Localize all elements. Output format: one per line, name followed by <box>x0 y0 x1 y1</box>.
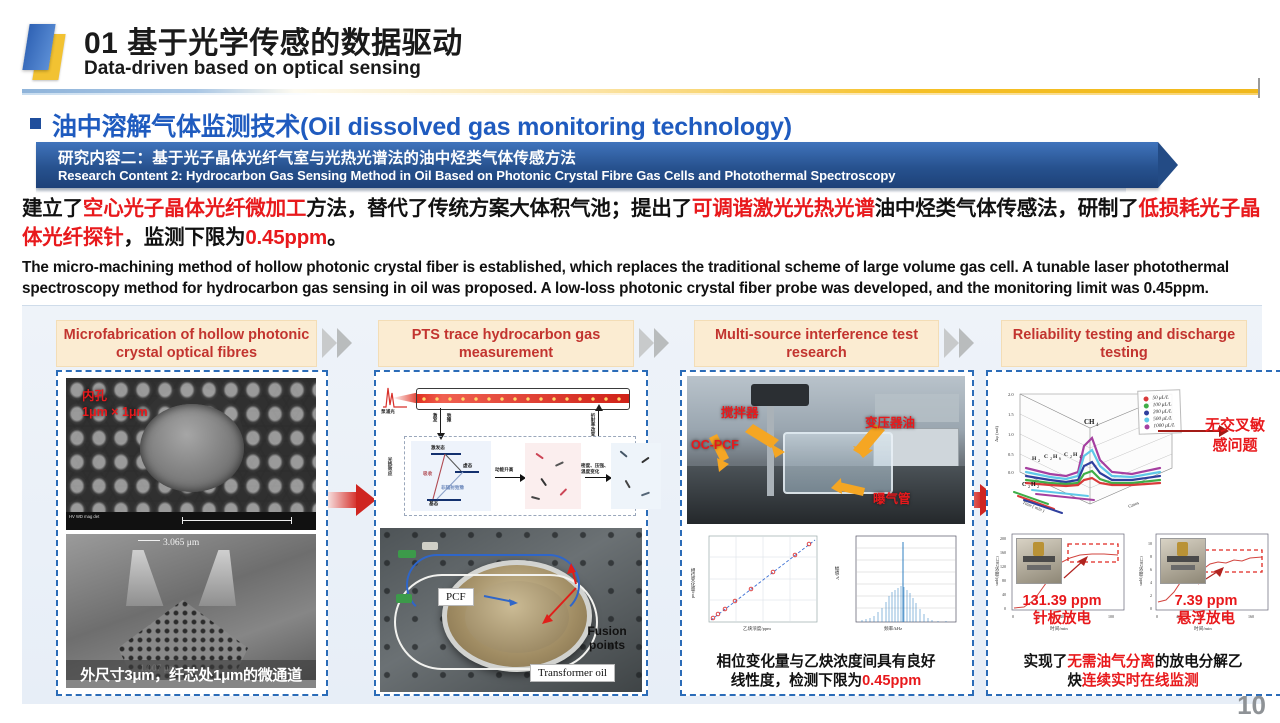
summary-run: 油中烃类气体传感法，研制了 <box>875 197 1139 220</box>
label-ocpcf: OC-PCF <box>691 438 739 452</box>
slide-header: 01 基于光学传感的数据驱动 Data-driven based on opti… <box>0 0 1280 92</box>
header-divider-glow <box>22 93 1260 95</box>
svg-text:H: H <box>1031 482 1036 488</box>
svg-text:6: 6 <box>1150 567 1152 572</box>
svg-text:2: 2 <box>1028 484 1030 489</box>
section-bullet-icon <box>30 118 41 129</box>
floating-electrode-photo <box>1160 538 1206 584</box>
svg-text:C: C <box>1064 452 1068 458</box>
svg-text:10: 10 <box>1148 541 1152 546</box>
chart-spectrum-ylabel: 幅值/V <box>834 566 840 580</box>
svg-text:CH: CH <box>1084 418 1095 426</box>
step-label-2: PTS trace hydrocarbon gas measurement <box>379 326 633 362</box>
svg-text:1.0: 1.0 <box>1008 432 1014 437</box>
svg-text:H: H <box>1073 452 1078 458</box>
panel1-caption: 外尺寸3μm，纤芯处1μm的微通道 <box>66 660 316 688</box>
label-absorb: 吸收 <box>423 471 432 477</box>
ribbon-shadow <box>36 188 1126 193</box>
panel-pts-measurement: 泵浦光 激发 弛豫 折射率改变 光热效应 <box>374 370 648 696</box>
svg-text:4: 4 <box>1079 454 1081 459</box>
svg-text:200: 200 <box>1000 536 1006 541</box>
svg-text:2: 2 <box>1070 454 1072 459</box>
chart3d-ylabel: Δφ (rad) <box>994 426 999 442</box>
label-ground-state: 基态 <box>429 501 438 507</box>
svg-text:0.5: 0.5 <box>1008 452 1014 457</box>
label-photothermal-effect: 光热效应 <box>387 457 393 475</box>
arrow-to-density <box>585 477 607 478</box>
chevron-right-icon-1 <box>322 328 366 358</box>
svg-text:H: H <box>1032 456 1037 462</box>
slide: 01 基于光学传感的数据驱动 Data-driven based on opti… <box>0 0 1280 723</box>
svg-text:4: 4 <box>1150 580 1152 585</box>
svg-text:C: C <box>1022 482 1026 488</box>
header-end-tick <box>1258 78 1260 98</box>
photothermal-subdiagram: 光热效应 激发态 虚态 基态 吸收 <box>404 436 636 516</box>
panel3-caption: 相位变化量与乙炔浓度间具有良好 线性度，检测下限为0.45ppm <box>685 653 967 691</box>
label-stirrer: 搅拌器 <box>721 402 759 421</box>
summary-run: 0.45ppm <box>245 226 327 249</box>
discharge-value-1: 131.39 ppm 针板放电 <box>992 592 1132 628</box>
arrow-excite <box>440 408 441 434</box>
chart-linearity-ylabel: 相位变化量/rad <box>690 568 696 598</box>
summary-paragraph: 建立了空心光子晶体光纤微加工方法，替代了传统方案大体积气池；提出了可调谐激光光热… <box>22 194 1262 299</box>
lab-setup-photo: 搅拌器 OC-PCF 变压器油 曝气管 <box>687 376 965 524</box>
svg-text:6: 6 <box>1059 456 1061 461</box>
label-aeration-tube: 曝气管 <box>873 488 911 507</box>
chart-spectrum: 幅值/V 频率/kHz <box>826 530 965 640</box>
sem-image-fiber-tip: 3.065 μm 1.007 μm <box>66 534 316 680</box>
summary-run: ，监测下限为 <box>124 226 246 249</box>
panel-reliability-discharge: CH 4 C 2 H 2 H 2 C 2 H 6 C 2 H 4 <box>986 370 1280 696</box>
arrow-refractive <box>598 410 599 436</box>
summary-run: 空心光子晶体光纤微加工 <box>83 197 306 220</box>
summary-run: 。 <box>327 226 347 249</box>
step-header-4[interactable]: Reliability testing and discharge testin… <box>1001 320 1247 367</box>
page-title-cn: 01 基于光学传感的数据驱动 <box>84 18 463 62</box>
sem-image-cross-section: 内孔 1μm × 1μm HV WD mag det <box>66 378 316 530</box>
summary-en: The micro-machining method of hollow pho… <box>22 257 1262 299</box>
page-number: 10 <box>1237 690 1266 721</box>
page-title-en: Data-driven based on optical sensing <box>84 58 421 80</box>
label-excited-state: 激发态 <box>431 445 445 451</box>
svg-text:80: 80 <box>1002 578 1006 583</box>
dchB-ylabel: C2H2浓度/ppm <box>1138 556 1144 586</box>
chart-floating-discharge: 024 6810 04080 120160 7.39 ppm 悬浮放电 C2H2… <box>1136 530 1276 638</box>
label-relax: 弛豫 <box>446 413 452 422</box>
content-area: Microfabrication of hollow photonic crys… <box>22 305 1262 704</box>
step-header-3[interactable]: Multi-source interference test research <box>694 320 939 367</box>
svg-text:2: 2 <box>1038 458 1040 463</box>
step-header-2[interactable]: PTS trace hydrocarbon gas measurement <box>378 320 634 367</box>
svg-text:2: 2 <box>1037 484 1039 489</box>
svg-text:160: 160 <box>1000 550 1006 555</box>
panel-microfabrication: 内孔 1μm × 1μm HV WD mag det 3.065 μm 1.00… <box>56 370 328 696</box>
section-title: 油中溶解气体监测技术(Oil dissolved gas monitoring … <box>52 107 792 143</box>
label-nonradiative: 非辐射弛豫 <box>441 485 464 491</box>
panel4-caption: 实现了无需油气分离的放电分解乙 炔连续实时在线监测 <box>991 653 1275 691</box>
flow-arrow-icon-1 <box>328 484 376 516</box>
sem-outer-dimension: 3.065 μm <box>138 538 199 548</box>
label-pcf: PCF <box>438 588 474 606</box>
summary-cn: 建立了空心光子晶体光纤微加工方法，替代了传统方案大体积气池；提出了可调谐激光光热… <box>22 194 1262 252</box>
dchB-xlabel: 时间/min <box>1194 626 1212 632</box>
summary-run: 方法，替代了传统方案大体积气池；提出了 <box>306 197 692 220</box>
dchA-ylabel: C2H2浓度/ppm <box>994 556 1000 586</box>
sem-inner-hole-label: 内孔 1μm × 1μm <box>82 388 148 420</box>
dchA-xlabel: 时间/min <box>1050 626 1068 632</box>
label-virtual-state: 虚态 <box>463 463 472 469</box>
chart-linearity: 相位变化量/rad 乙炔浓度/ppm <box>687 530 826 640</box>
panel-multisource-interference: 搅拌器 OC-PCF 变压器油 曝气管 <box>680 370 974 696</box>
label-excite: 激发 <box>432 413 438 422</box>
chart-spectrum-xlabel: 频率/kHz <box>884 626 902 632</box>
sem-scalebar-1: HV WD mag det <box>66 512 316 530</box>
step-label-4: Reliability testing and discharge testin… <box>1002 326 1246 362</box>
label-fusion-points: Fusion points <box>578 624 636 652</box>
svg-text:2.0: 2.0 <box>1008 392 1014 397</box>
summary-run: 可调谐激光光热光谱 <box>692 197 875 220</box>
arrow-to-kinetic <box>495 477 521 478</box>
label-kinetic-energy: 动能升高 <box>495 467 513 473</box>
brand-logo-icon <box>22 22 74 80</box>
needle-plate-electrode-photo <box>1016 538 1062 584</box>
label-density-pressure-temp: 密度、压强、温度变化 <box>581 463 611 475</box>
discharge-value-2: 7.39 ppm 悬浮放电 <box>1136 592 1276 628</box>
step-header-1[interactable]: Microfabrication of hollow photonic crys… <box>56 320 317 367</box>
step-label-3: Multi-source interference test research <box>695 326 938 362</box>
sem-meta-text: HV WD mag det <box>69 514 99 520</box>
chart-needle-plate-discharge: 04080 120160200 02040 60100 131.39 ppm 针… <box>992 530 1132 638</box>
chevron-right-icon-3 <box>944 328 988 358</box>
chart-3d-waterfall: CH 4 C 2 H 2 H 2 C 2 H 6 C 2 H 4 <box>992 376 1192 526</box>
step-label-1: Microfabrication of hollow photonic crys… <box>57 326 316 362</box>
panel3-charts: 相位变化量/rad 乙炔浓度/ppm <box>687 530 965 640</box>
pcf-transformer-oil-photo: PCF Fusion points Transformer oil <box>380 528 642 692</box>
svg-text:0.0: 0.0 <box>1008 470 1014 475</box>
chart-linearity-xlabel: 乙炔浓度/ppm <box>743 626 771 632</box>
research-content-ribbon: 研究内容二：基于光子晶体光纤气室与光热光谱法的油中烃类气体传感方法 Resear… <box>36 142 1158 188</box>
svg-text:H: H <box>1053 454 1058 460</box>
chart3d-legend: 50 μL/L 100 μL/L 200 μL/L 500 μL/L 1000 … <box>1137 389 1181 434</box>
ribbon-title-en: Research Content 2: Hydrocarbon Gas Sens… <box>58 168 895 183</box>
summary-run: 建立了 <box>22 197 83 220</box>
svg-text:2: 2 <box>1050 456 1052 461</box>
label-transformer-oil: Transformer oil <box>530 664 615 682</box>
panel4-note: 无交叉敏感问题 <box>1196 416 1274 456</box>
svg-text:1.5: 1.5 <box>1008 412 1014 417</box>
ribbon-title-cn: 研究内容二：基于光子晶体光纤气室与光热光谱法的油中烃类气体传感方法 <box>58 146 576 168</box>
photothermal-effect-diagram: 泵浦光 激发 弛豫 折射率改变 光热效应 <box>380 374 642 520</box>
svg-text:8: 8 <box>1150 554 1152 559</box>
label-refractive-change: 折射率改变 <box>590 413 596 436</box>
label-transformer-oil-cn: 变压器油 <box>865 412 915 431</box>
svg-text:120: 120 <box>1000 564 1006 569</box>
svg-text:C: C <box>1044 454 1048 460</box>
chevron-right-icon-2 <box>639 328 683 358</box>
label-pump-light: 泵浦光 <box>381 409 395 415</box>
